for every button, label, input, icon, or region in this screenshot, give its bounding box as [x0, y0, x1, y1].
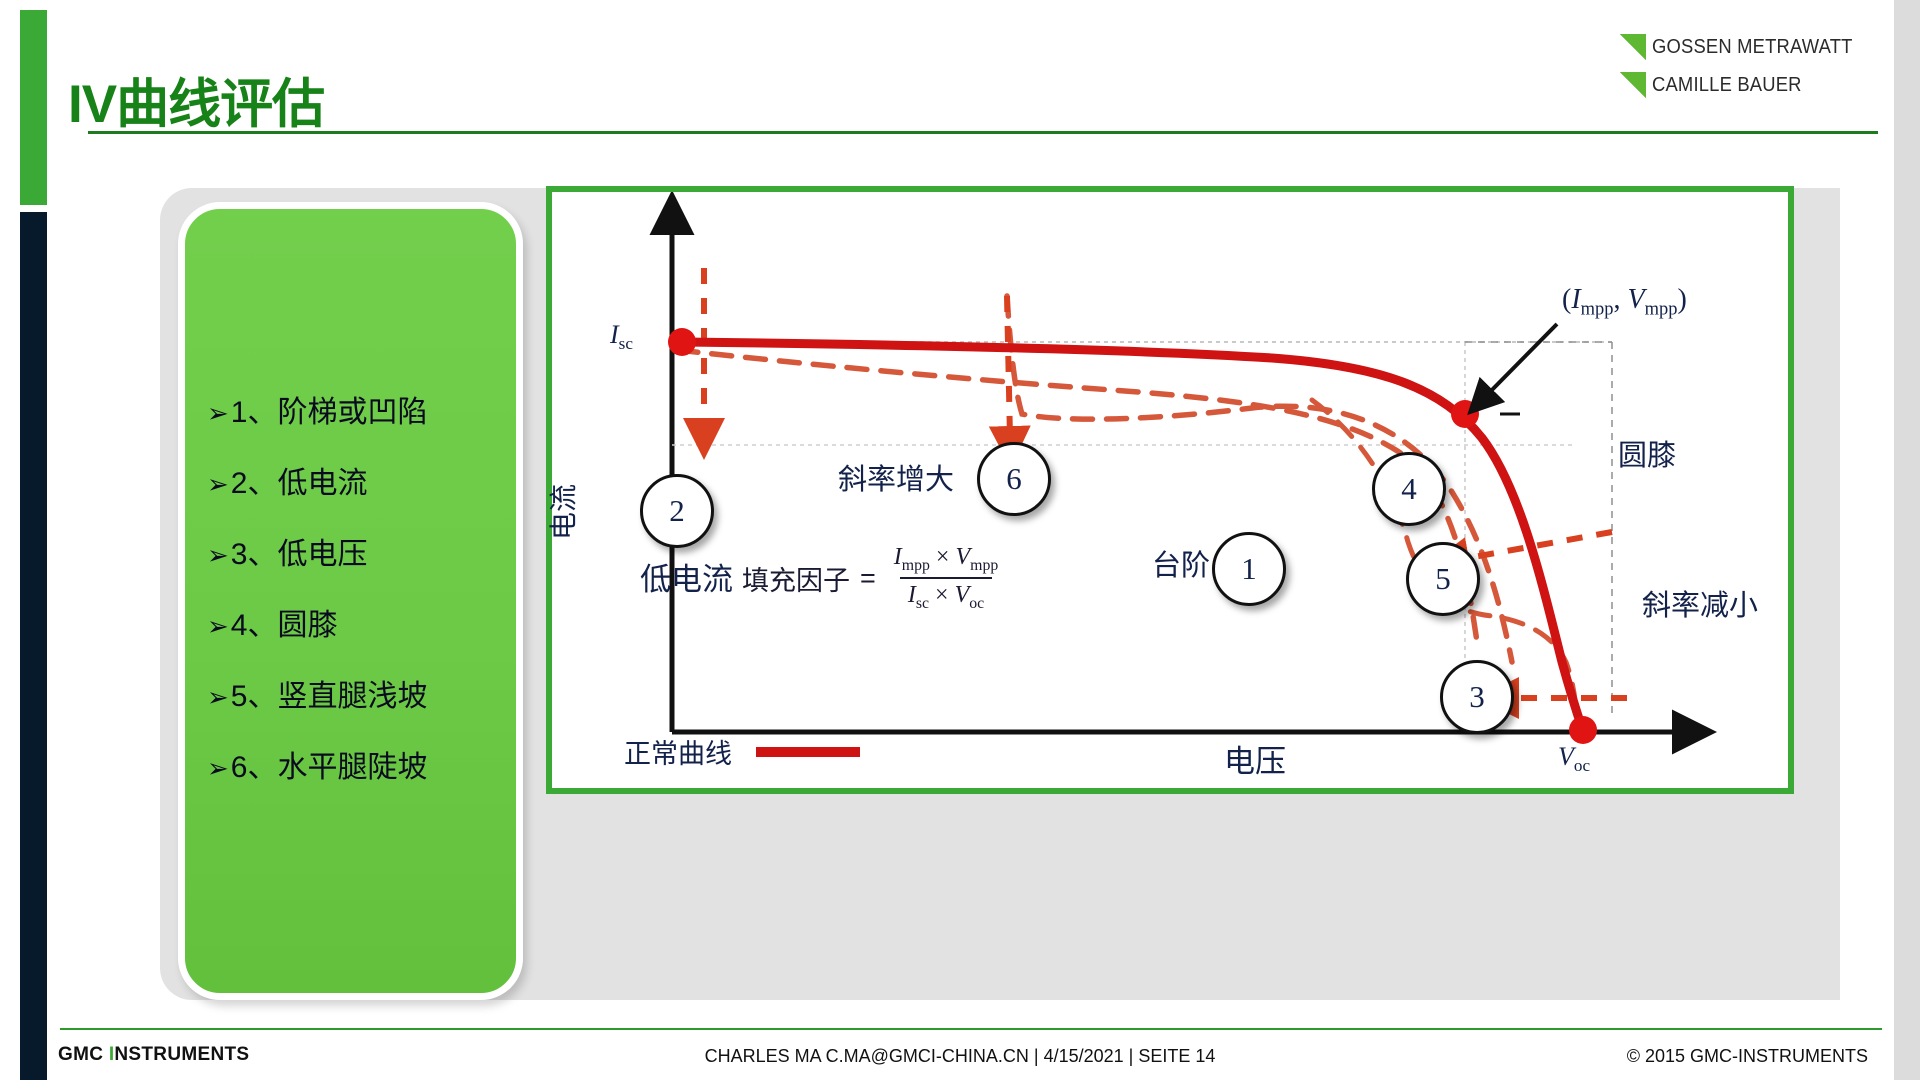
list-item: ➢ 4、圆膝: [207, 600, 506, 644]
title-underline: [88, 131, 1878, 134]
list-item-label: 4、圆膝: [231, 600, 338, 644]
formula-equals: =: [860, 563, 876, 594]
point-voc: [1569, 716, 1597, 744]
marker-3: 3: [1440, 660, 1514, 734]
marker-5: 5: [1406, 542, 1480, 616]
marker-2: 2: [640, 474, 714, 548]
annotation-low-current: 低电流: [640, 554, 733, 599]
triangle-icon: [1620, 72, 1646, 98]
iv-curve-chart: Isc Voc (Impp, Vmpp) 斜率增大 台阶 低电流 圆膝 斜率减小…: [546, 186, 1794, 794]
list-item: ➢ 2、低电流: [207, 458, 506, 502]
right-edge-strip: [1894, 0, 1920, 1080]
logo-gossen-metrawatt-label: GOSSEN METRAWATT: [1652, 36, 1853, 59]
legend-swatch-normal-curve: [756, 747, 860, 757]
marker-1: 1: [1212, 532, 1286, 606]
marker-6: 6: [977, 442, 1051, 516]
iv-curve-plot: [552, 192, 1788, 788]
annotation-step: 台阶: [1152, 542, 1210, 584]
arrow-bullet-icon: ➢: [207, 611, 229, 642]
arrow-bullet-icon: ➢: [207, 682, 229, 713]
annotation-slope-increase: 斜率增大: [838, 456, 954, 498]
arrow-bullet-icon: ➢: [207, 398, 229, 429]
logo-gossen-metrawatt: GOSSEN METRAWATT: [1620, 28, 1850, 66]
callout-arrow-mpp: [1484, 324, 1557, 398]
left-accent-bar-green: [20, 10, 47, 205]
annotation-round-knee: 圆膝: [1618, 432, 1676, 474]
point-mpp: [1451, 400, 1479, 428]
axis-label-current: 电流: [542, 484, 582, 540]
fault-list: ➢ 1、阶梯或凹陷 ➢ 2、低电流 ➢ 3、低电压 ➢ 4、圆膝 ➢ 5、竖直腿…: [207, 387, 506, 813]
footer-copyright: © 2015 GMC-INSTRUMENTS: [1627, 1046, 1868, 1067]
formula-numerator: Impp × Vmpp: [886, 544, 1007, 577]
arrow-bullet-icon: ➢: [207, 540, 229, 571]
annotation-slope-decrease: 斜率减小: [1642, 582, 1758, 624]
footer-divider: [60, 1028, 1882, 1030]
label-isc: Isc: [610, 320, 633, 354]
point-isc: [668, 328, 696, 356]
chart-legend: 正常曲线: [624, 732, 860, 771]
arrow-bullet-icon: ➢: [207, 469, 229, 500]
list-item-label: 1、阶梯或凹陷: [231, 387, 428, 431]
left-accent-bar-navy: [20, 212, 47, 1080]
list-item-label: 3、低电压: [231, 529, 368, 573]
logo-camille-bauer: CAMILLE BAUER: [1620, 66, 1850, 104]
list-item-label: 2、低电流: [231, 458, 368, 502]
page-title: IV曲线评估: [68, 62, 324, 138]
triangle-icon: [1620, 34, 1646, 60]
formula-lhs: 填充因子: [742, 559, 850, 598]
logo-camille-bauer-label: CAMILLE BAUER: [1652, 74, 1802, 97]
list-item: ➢ 5、竖直腿浅坡: [207, 671, 506, 715]
list-item: ➢ 3、低电压: [207, 529, 506, 573]
legend-label: 正常曲线: [624, 732, 732, 771]
list-item: ➢ 1、阶梯或凹陷: [207, 387, 506, 431]
label-voc: Voc: [1558, 742, 1590, 776]
axis-label-voltage: 电压: [1224, 736, 1286, 781]
slide-canvas: IV曲线评估 GOSSEN METRAWATT CAMILLE BAUER ➢ …: [0, 0, 1920, 1080]
arrow-bullet-icon: ➢: [207, 753, 229, 784]
list-item: ➢ 6、水平腿陡坡: [207, 742, 506, 786]
list-item-label: 5、竖直腿浅坡: [231, 671, 428, 715]
marker-4: 4: [1372, 452, 1446, 526]
formula-denominator: Isc × Voc: [900, 577, 992, 613]
fault-list-card: ➢ 1、阶梯或凹陷 ➢ 2、低电流 ➢ 3、低电压 ➢ 4、圆膝 ➢ 5、竖直腿…: [178, 202, 523, 1000]
list-item-label: 6、水平腿陡坡: [231, 742, 428, 786]
formula-fraction: Impp × Vmpp Isc × Voc: [886, 544, 1007, 613]
logo-block: GOSSEN METRAWATT CAMILLE BAUER: [1620, 28, 1850, 104]
label-mpp: (Impp, Vmpp): [1562, 284, 1687, 320]
normal-iv-curve: [684, 342, 1582, 728]
fill-factor-formula: 填充因子 = Impp × Vmpp Isc × Voc: [742, 544, 1006, 613]
